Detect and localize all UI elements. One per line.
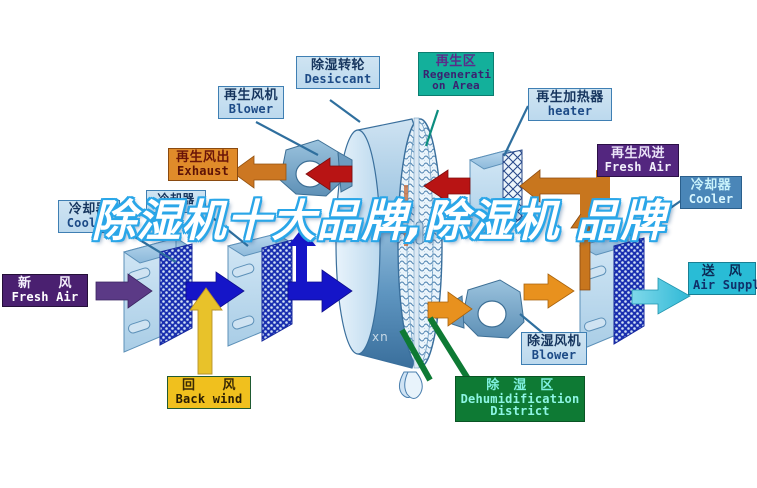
label-fresh-air-in: 新 风 Fresh Air — [2, 274, 88, 307]
label-dehumidification-blower: 除湿风机 Blower — [521, 332, 587, 365]
faint-watermark-text: xn — [372, 330, 389, 344]
label-desiccant: 除湿转轮 Desiccant — [296, 56, 380, 89]
label-cooler-right: 冷却器 Cooler — [680, 176, 742, 209]
label-regeneration-fresh-air: 再生风进 Fresh Air — [597, 144, 679, 177]
label-back-wind: 回 风 Back wind — [167, 376, 251, 409]
label-exhaust: 再生风出 Exhaust — [168, 148, 238, 181]
label-regeneration-heater: 再生加热器 heater — [528, 88, 612, 121]
label-dehumidification-district: 除 湿 区 Dehumidification District — [455, 376, 585, 422]
label-air-supply: 送 风 Air Supply — [688, 262, 756, 295]
dehumidifier-process-diagram: xn 除湿转轮 Desiccant 再生风机 Blower 再生区 Regene… — [0, 0, 757, 488]
arrow-dehum-to-cooler — [524, 274, 574, 308]
regeneration-heater-unit — [470, 150, 522, 238]
label-cooler-left-1: 冷却器 Cooler — [58, 200, 120, 233]
label-regeneration-blower: 再生风机 Blower — [218, 86, 284, 119]
label-cooler-left-2: 冷却器 — [146, 190, 206, 213]
arrow-exhaust — [232, 156, 286, 188]
label-regeneration-area: 再生区 Regenerati on Area — [418, 52, 494, 96]
